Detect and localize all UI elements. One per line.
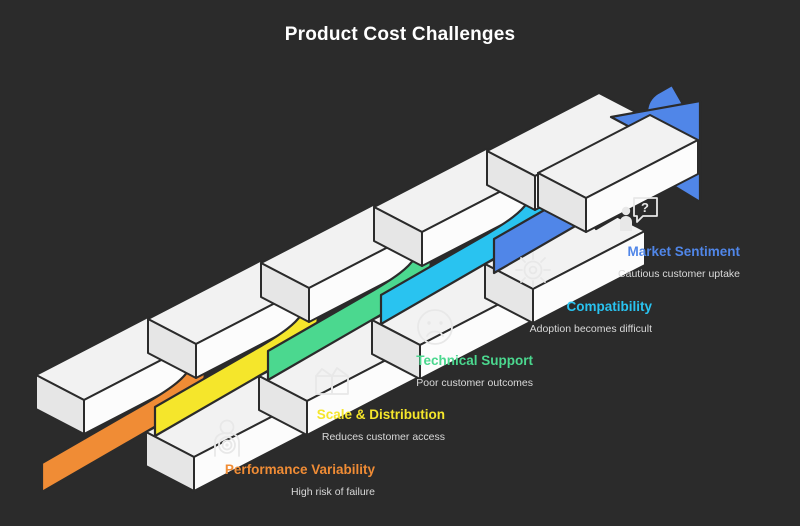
step-desc: Poor customer outcomes — [230, 377, 533, 389]
infographic-canvas: Product Cost Challenges — [0, 0, 800, 526]
step-title: Scale & Distribution — [120, 407, 445, 422]
person-question-icon: ? — [617, 196, 659, 234]
step-desc: Adoption becomes difficult — [340, 323, 652, 335]
step-title: Market Sentiment — [455, 244, 740, 259]
label-compatibility: Compatibility Adoption becomes difficult — [340, 299, 652, 335]
svg-text:?: ? — [641, 200, 649, 215]
step-title: Performance Variability — [20, 462, 375, 477]
step-desc: Cautious customer uptake — [455, 268, 740, 280]
label-performance-variability: Performance Variability High risk of fai… — [20, 462, 375, 498]
label-technical-support: Technical Support Poor customer outcomes — [230, 353, 533, 389]
step-title: Compatibility — [340, 299, 652, 314]
step-desc: Reduces customer access — [120, 431, 445, 443]
label-market-sentiment: Market Sentiment Cautious customer uptak… — [455, 244, 740, 280]
step-title: Technical Support — [230, 353, 533, 368]
step-desc: High risk of failure — [20, 486, 375, 498]
label-scale-distribution: Scale & Distribution Reduces customer ac… — [120, 407, 445, 443]
